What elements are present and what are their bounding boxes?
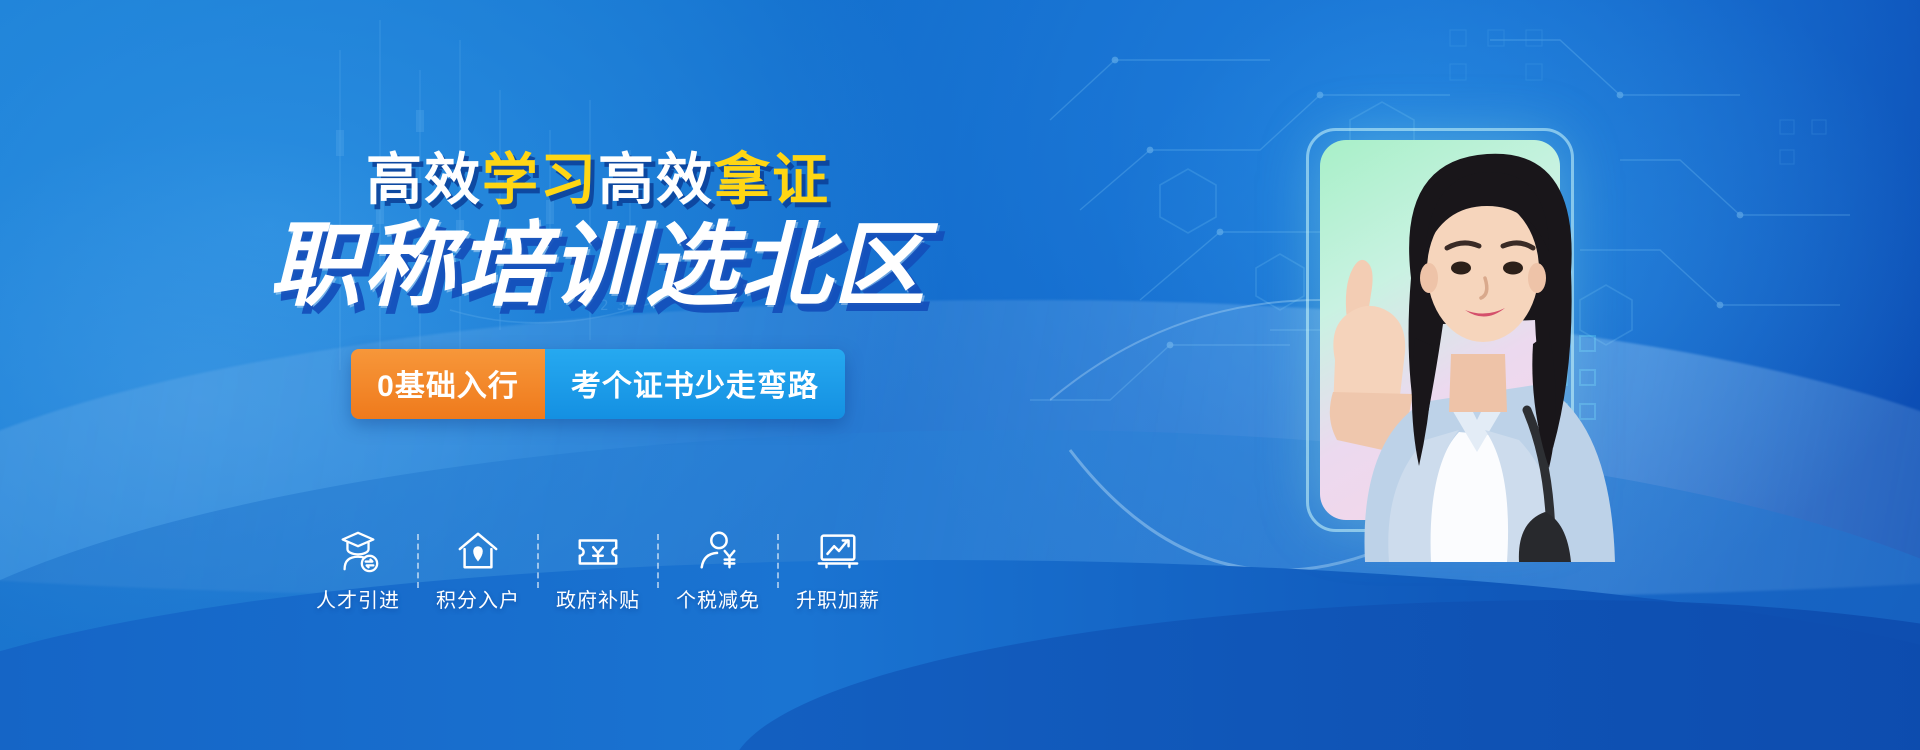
feature-item-subsidy[interactable]: 政府补贴 xyxy=(539,528,657,613)
graduate-exchange-icon xyxy=(335,528,381,574)
headline-top-seg-2: 学习 xyxy=(482,148,598,211)
ticket-yuan-icon xyxy=(575,528,621,574)
chart-board-icon xyxy=(815,528,861,574)
feature-label: 个税减免 xyxy=(676,584,760,613)
headline-main-seg-2-marked: 选 xyxy=(645,219,739,315)
hero-model-photo xyxy=(1215,92,1675,562)
headline-main: 职称培训选北区 xyxy=(248,219,948,315)
promo-banner: 2 39 xyxy=(0,0,1920,750)
headline-top-seg-4: 拿证 xyxy=(714,148,830,211)
feature-row: 人才引进 积分入户 政府补贴 xyxy=(248,528,948,613)
feature-label: 积分入户 xyxy=(436,584,520,613)
feature-label: 政府补贴 xyxy=(556,584,640,613)
feature-item-residency[interactable]: 积分入户 xyxy=(419,528,537,613)
headline-main-seg-1: 职称培训 xyxy=(269,215,645,317)
feature-item-promotion[interactable]: 升职加薪 xyxy=(779,528,897,613)
person-yen-icon xyxy=(695,528,741,574)
feature-item-tax[interactable]: 个税减免 xyxy=(659,528,777,613)
headline-main-seg-3: 北区 xyxy=(739,215,927,317)
house-pin-icon xyxy=(455,528,501,574)
wave-band-4 xyxy=(730,600,1920,750)
feature-label: 人才引进 xyxy=(316,584,400,613)
feature-item-talent[interactable]: 人才引进 xyxy=(299,528,417,613)
subtitle-orange-label: 0基础入行 xyxy=(351,349,545,419)
subtitle-pill: 0基础入行 考个证书少走弯路 xyxy=(351,349,845,419)
headline-top-seg-3: 高效 xyxy=(598,148,714,211)
headline-top-seg-1: 高效 xyxy=(366,148,482,211)
headline-top: 高效学习高效拿证 xyxy=(248,150,948,209)
copy-block: 高效学习高效拿证 职称培训选北区 0基础入行 考个证书少走弯路 xyxy=(248,150,948,419)
feature-label: 升职加薪 xyxy=(796,584,880,613)
subtitle-blue-label: 考个证书少走弯路 xyxy=(545,349,845,419)
